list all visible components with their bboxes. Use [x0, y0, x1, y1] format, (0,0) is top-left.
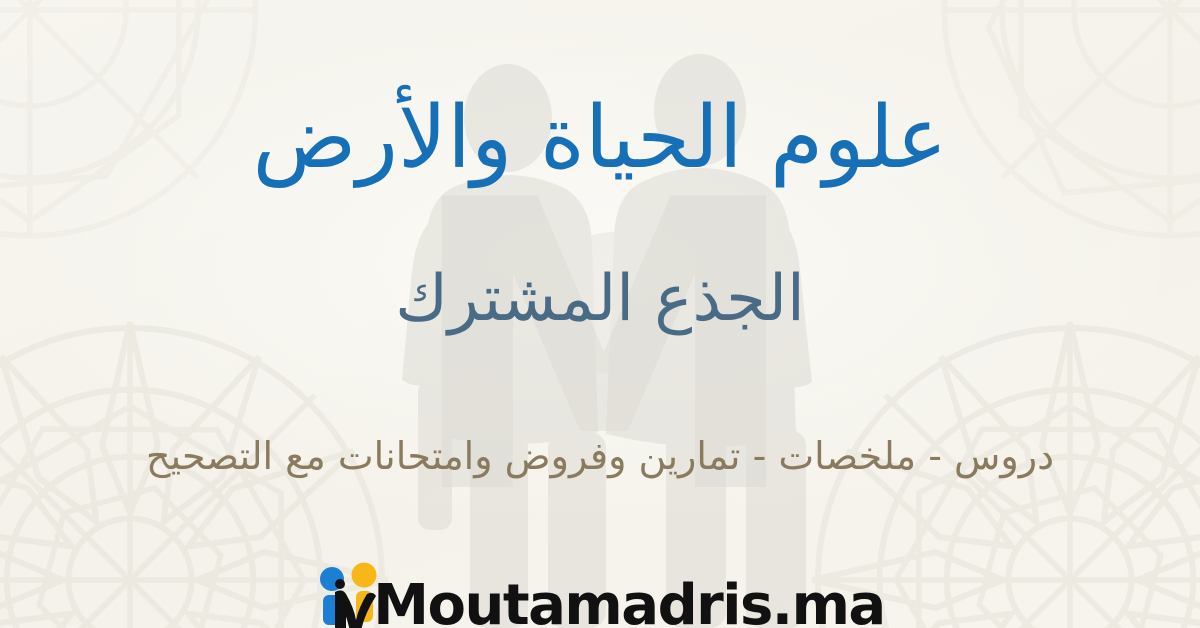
two-students-logo-mark-icon — [315, 562, 389, 628]
tagline-text: دروس - ملخصات - تمارين وفروض وامتحانات م… — [146, 434, 1054, 480]
page-title-main: علوم الحياة والأرض — [253, 92, 948, 185]
poster-canvas: M علوم الحياة والأرض الجذع المشترك دروس … — [0, 0, 1200, 628]
brand-wordmark: Moutamadris.ma — [373, 578, 884, 628]
brand-lockup[interactable]: Moutamadris.ma — [315, 562, 884, 628]
poster-content: علوم الحياة والأرض الجذع المشترك دروس - … — [0, 0, 1200, 628]
page-title-subtitle: الجذع المشترك — [395, 264, 804, 334]
